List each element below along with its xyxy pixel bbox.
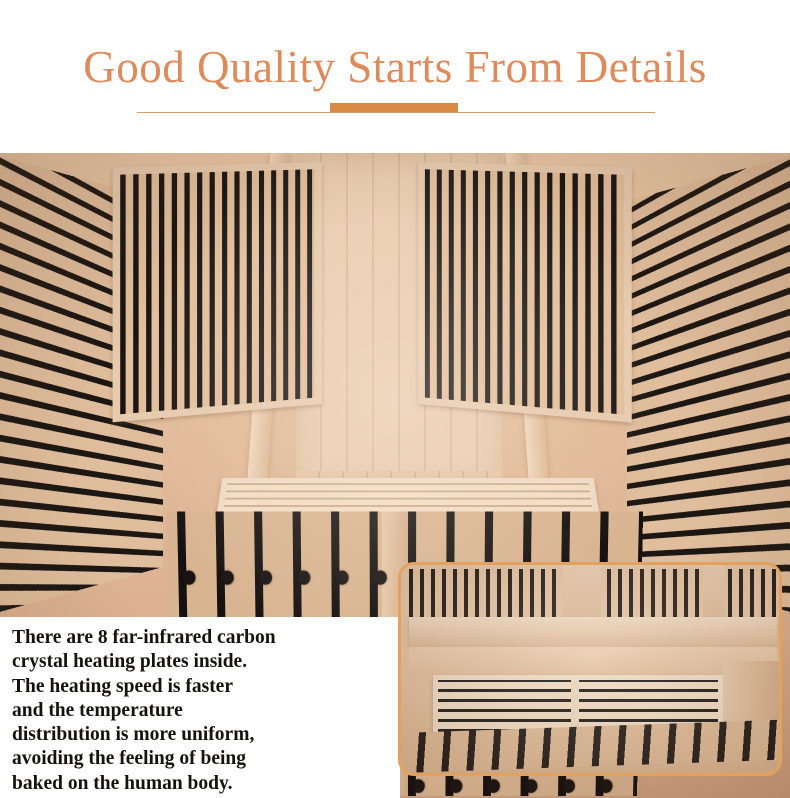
promo-banner: Good Quality Starts From Details	[0, 0, 790, 798]
right-wall-slat-panel	[627, 153, 790, 619]
floor-bolt-dot	[600, 779, 613, 793]
heater-panel-left	[113, 162, 322, 422]
title-divider	[137, 102, 655, 116]
floor-bolt-dot	[259, 571, 272, 585]
divider-accent-bar	[330, 103, 458, 112]
inset-detail-photo	[398, 562, 782, 776]
floor-bolt-dot	[221, 571, 234, 585]
floor-bolt-dot	[449, 779, 462, 793]
page-title: Good Quality Starts From Details	[0, 40, 790, 94]
heater-panel-left-slats	[120, 169, 315, 414]
floor-bolt-dot	[335, 571, 348, 585]
heater-panel-right	[418, 162, 632, 423]
floor-bolt-dot	[297, 571, 310, 585]
floor-bolt-dot	[487, 779, 500, 793]
floor-bolt-dot	[562, 779, 575, 793]
inset-vignette	[401, 565, 779, 773]
divider-line	[137, 112, 655, 113]
floor-bolt-dot	[182, 571, 195, 585]
floor-bolt-dot	[374, 571, 387, 585]
floor-bolt-dot	[412, 779, 425, 793]
header: Good Quality Starts From Details	[0, 0, 790, 153]
caption-panel: There are 8 far-infrared carbon crystal …	[0, 617, 400, 798]
caption-text: There are 8 far-infrared carbon crystal …	[12, 626, 392, 796]
heater-panel-right-slats	[425, 169, 624, 414]
floor-bolt-dot	[524, 779, 537, 793]
right-wall-slats	[627, 153, 790, 619]
